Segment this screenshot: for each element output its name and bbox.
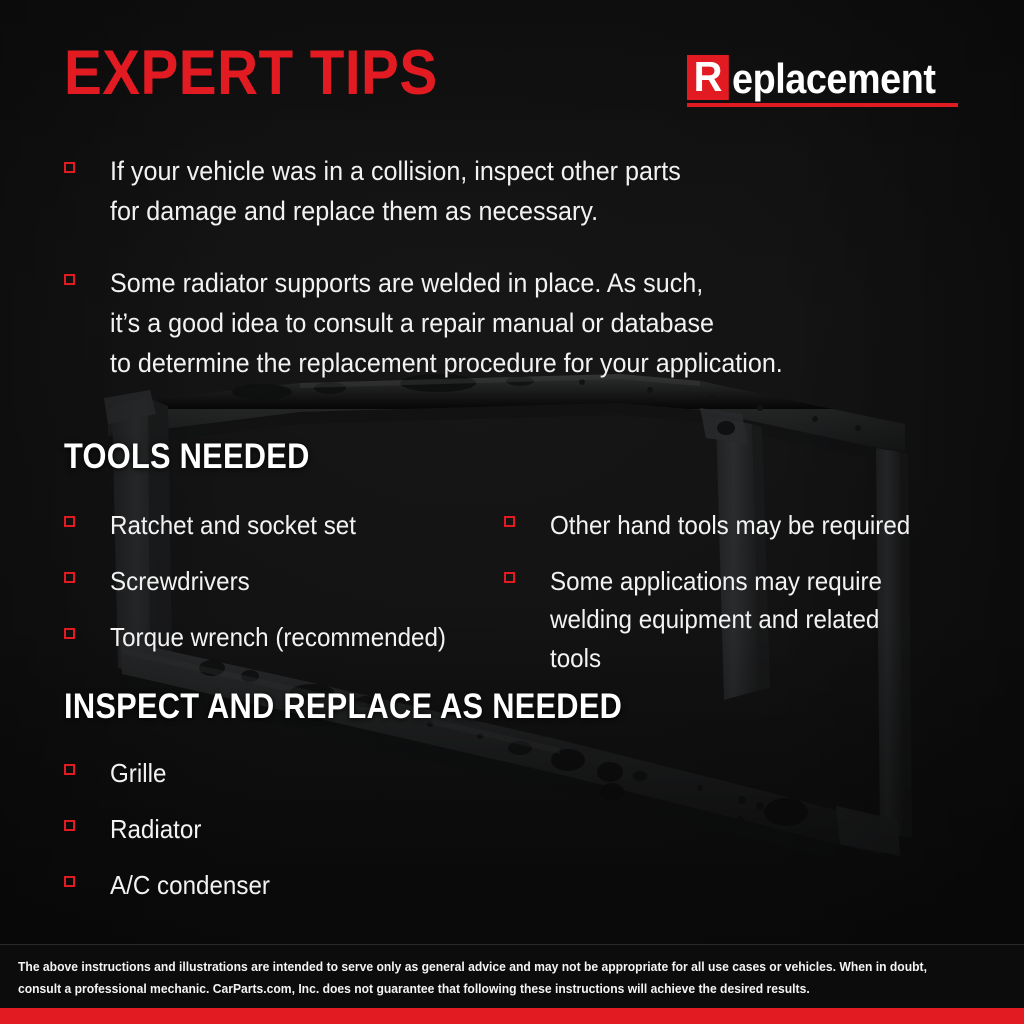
card-content: EXPERT TIPS R eplacement If your vehicle… — [0, 0, 1024, 1024]
list-item: Torque wrench (recommended) — [64, 618, 504, 656]
list-item: Ratchet and socket set — [64, 506, 504, 544]
tool-text: Some applications may require welding eq… — [550, 562, 916, 677]
inspect-replace-section: INSPECT AND REPLACE AS NEEDED Grille Rad… — [64, 687, 984, 905]
list-item: If your vehicle was in a collision, insp… — [64, 152, 964, 231]
list-item: Other hand tools may be required — [504, 506, 944, 544]
tool-text: Torque wrench (recommended) — [110, 618, 446, 656]
square-bullet-icon — [64, 516, 75, 527]
inspect-item-text: Radiator — [110, 810, 201, 848]
list-item: Some radiator supports are welded in pla… — [64, 264, 964, 383]
square-bullet-icon — [64, 572, 75, 583]
tool-text: Ratchet and socket set — [110, 506, 356, 544]
inspect-replace-heading: INSPECT AND REPLACE AS NEEDED — [64, 687, 874, 727]
square-bullet-icon — [64, 274, 75, 285]
logo-badge-letter: R — [687, 55, 729, 100]
tools-left-column: Ratchet and socket set Screwdrivers Torq… — [64, 506, 504, 677]
logo-underline — [687, 103, 958, 107]
expert-tips-card: EXPERT TIPS R eplacement If your vehicle… — [0, 0, 1024, 1024]
square-bullet-icon — [64, 820, 75, 831]
tip-text: Some radiator supports are welded in pla… — [110, 264, 783, 383]
inspect-items-list: Grille Radiator A/C condenser — [64, 754, 984, 905]
list-item: Some applications may require welding eq… — [504, 562, 944, 677]
square-bullet-icon — [64, 764, 75, 775]
square-bullet-icon — [504, 572, 515, 583]
tools-columns: Ratchet and socket set Screwdrivers Torq… — [64, 506, 984, 677]
tools-needed-heading: TOOLS NEEDED — [64, 437, 874, 477]
square-bullet-icon — [64, 876, 75, 887]
page-title: EXPERT TIPS — [64, 42, 438, 105]
tool-text: Other hand tools may be required — [550, 506, 910, 544]
square-bullet-icon — [64, 628, 75, 639]
tool-text: Screwdrivers — [110, 562, 250, 600]
tools-right-column: Other hand tools may be required Some ap… — [504, 506, 944, 677]
intro-tips-list: If your vehicle was in a collision, insp… — [64, 152, 964, 383]
list-item: Radiator — [64, 810, 984, 848]
list-item: Screwdrivers — [64, 562, 504, 600]
tools-needed-section: TOOLS NEEDED Ratchet and socket set Scre… — [64, 437, 984, 677]
list-item: Grille — [64, 754, 984, 792]
tip-text: If your vehicle was in a collision, insp… — [110, 152, 681, 231]
inspect-item-text: Grille — [110, 754, 166, 792]
logo-wordmark: R eplacement — [687, 55, 958, 100]
inspect-item-text: A/C condenser — [110, 866, 270, 904]
logo-word-rest: eplacement — [732, 58, 935, 100]
footer-disclaimer-bar: The above instructions and illustrations… — [0, 944, 1024, 1008]
list-item: A/C condenser — [64, 866, 984, 904]
disclaimer-text: The above instructions and illustrations… — [18, 957, 972, 1000]
brand-logo: R eplacement — [687, 55, 958, 107]
square-bullet-icon — [504, 516, 515, 527]
square-bullet-icon — [64, 162, 75, 173]
bottom-red-accent-bar — [0, 1008, 1024, 1024]
